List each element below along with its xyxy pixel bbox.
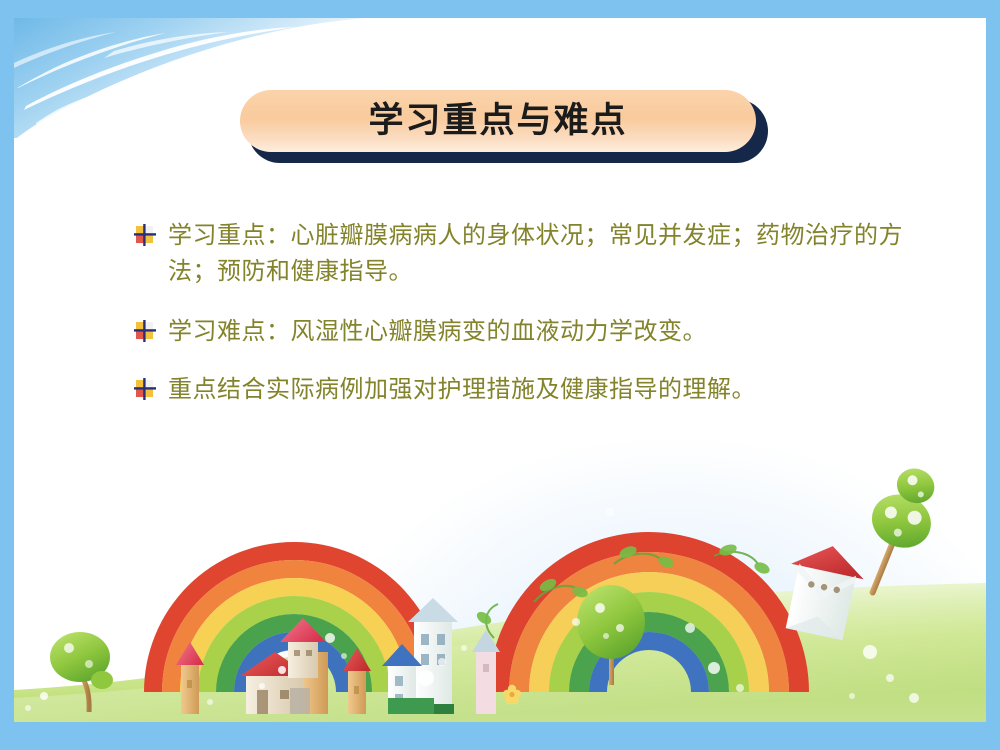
list-item: 重点结合实际病例加强对护理措施及健康指导的理解。 bbox=[134, 372, 914, 408]
title-container: 学习重点与难点 bbox=[14, 90, 986, 158]
rainbow-arch-main bbox=[489, 532, 809, 692]
bubbles bbox=[25, 508, 919, 711]
four-color-cross-bullet-icon bbox=[134, 224, 156, 246]
red-roof-house-cluster bbox=[240, 618, 328, 714]
bullet-list: 学习重点：心脏瓣膜病病人的身体状况；常见并发症；药物治疗的方法；预防和健康指导。… bbox=[134, 218, 914, 434]
list-item-label: 重点结合实际病例加强对护理措施及健康指导的理解。 bbox=[168, 372, 756, 408]
list-item: 学习难点：风湿性心瓣膜病变的血液动力学改变。 bbox=[134, 314, 914, 350]
lollipop-topiary-tree bbox=[844, 459, 950, 607]
four-color-cross-bullet-icon bbox=[134, 378, 156, 400]
four-color-cross-bullet-icon bbox=[134, 320, 156, 342]
tilted-red-roof-house bbox=[778, 538, 869, 641]
round-tree-left bbox=[50, 632, 113, 712]
pink-roof-tower-left bbox=[176, 642, 204, 714]
round-tree-floating bbox=[577, 585, 645, 685]
list-item-label: 学习重点：心脏瓣膜病病人的身体状况；常见并发症；药物治疗的方法；预防和健康指导。 bbox=[168, 218, 914, 290]
list-item-label: 学习难点：风湿性心瓣膜病变的血液动力学改变。 bbox=[168, 314, 707, 350]
slide: 学习重点与难点 学习重点：心脏瓣膜病病人的身体状况；常见并发症；药物 bbox=[0, 0, 1000, 750]
rainbow-arch bbox=[144, 542, 444, 692]
slide-canvas: 学习重点与难点 学习重点：心脏瓣膜病病人的身体状况；常见并发症；药物 bbox=[14, 18, 986, 722]
sky-glow bbox=[326, 432, 986, 722]
pink-roof-tower-right bbox=[343, 648, 371, 714]
white-house-tall bbox=[382, 598, 458, 714]
page-title: 学习重点与难点 bbox=[368, 104, 627, 139]
flower-icon bbox=[503, 685, 521, 704]
list-item: 学习重点：心脏瓣膜病病人的身体状况；常见并发症；药物治疗的方法；预防和健康指导。 bbox=[134, 218, 914, 290]
vine-leaves bbox=[486, 552, 834, 638]
rainbow-village-landscape bbox=[14, 452, 986, 722]
title-pill: 学习重点与难点 bbox=[240, 90, 756, 152]
landscape-illustration bbox=[14, 452, 986, 722]
pink-slim-tower bbox=[472, 630, 500, 714]
